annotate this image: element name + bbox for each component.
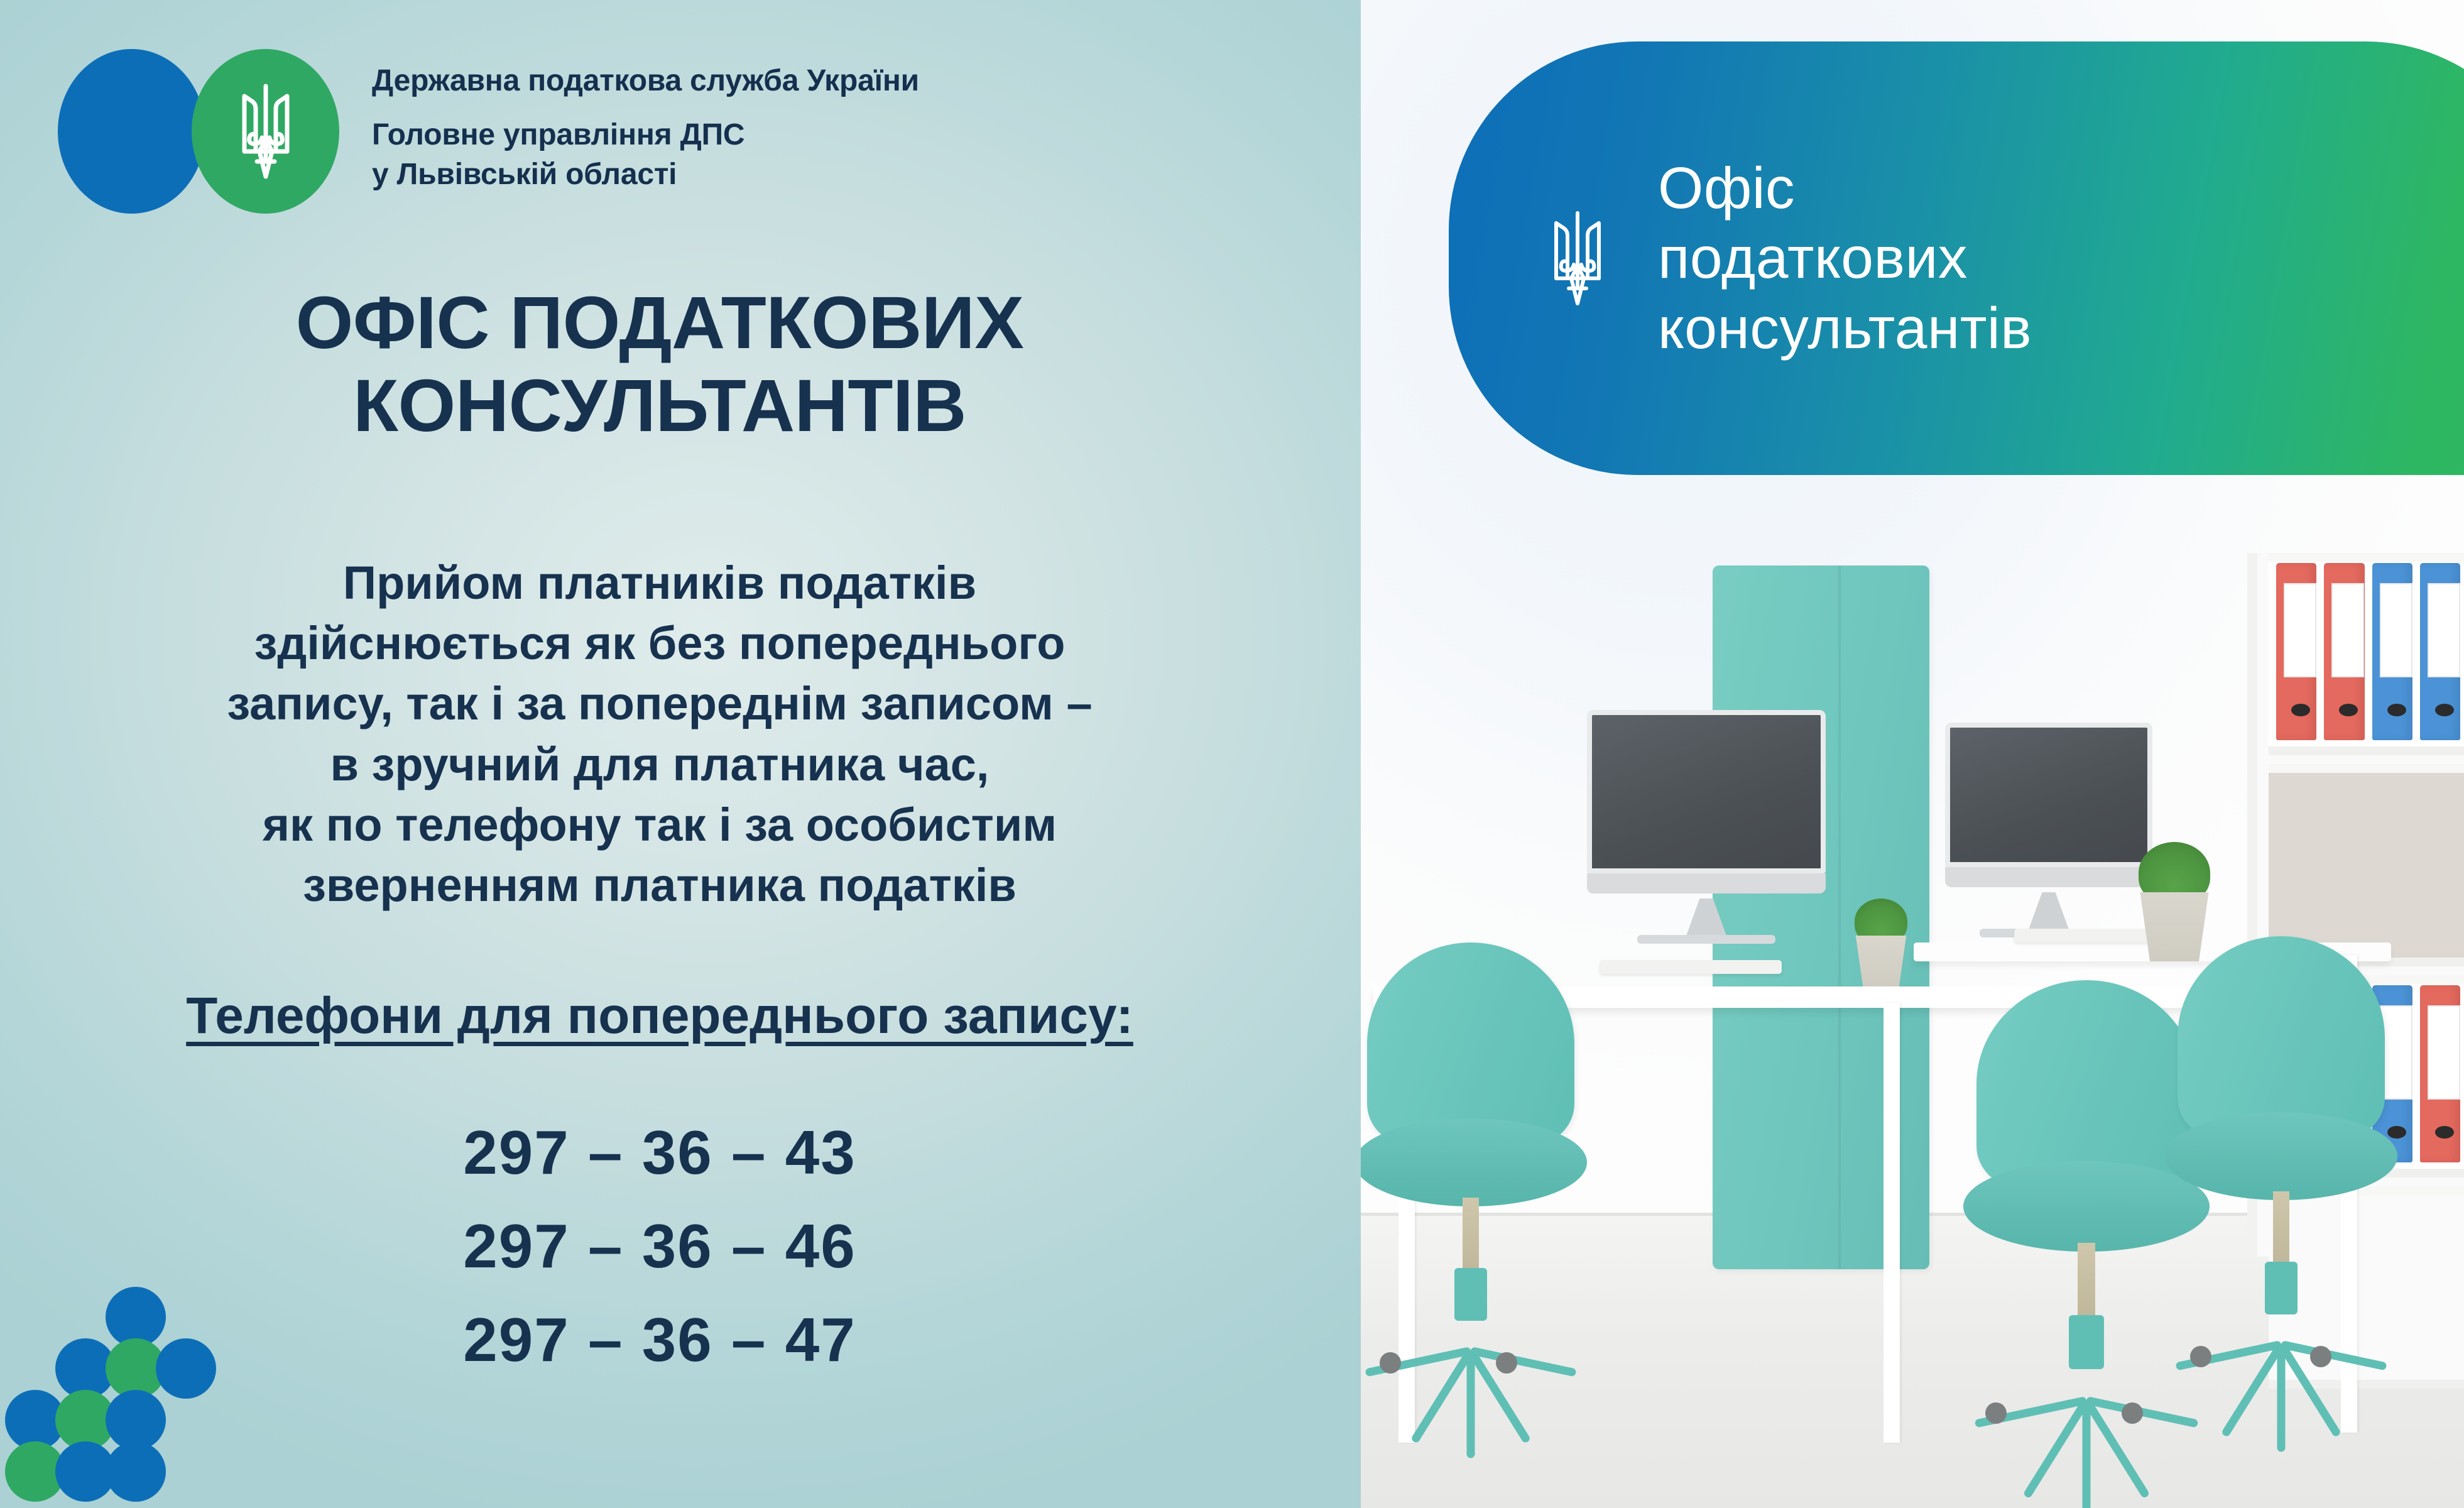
organisation-name-block: Державна податкова служба України Головн… [372,49,919,194]
desk-leg [1883,1003,1900,1443]
badge-trident-wrapper [1540,207,1615,309]
org-line-2: Головне управління ДПС [372,116,919,155]
office-chair-right [2178,936,2385,1376]
office-chair-left [1367,942,1574,1382]
body-line-5: як по телефону так і за особистим [0,795,1319,855]
tax-consultants-badge: Офіс податкових консультантів [1449,41,2464,475]
logo-green-circle [192,49,339,214]
body-line-1: Прийом платників податків [0,553,1319,613]
poster-canvas: Державна податкова служба України Головн… [0,0,2464,1508]
badge-line-1: Офіс [1658,153,2032,224]
decorative-dot [156,1338,216,1399]
keyboard [1600,960,1782,974]
office-photo-panel: Офіс податкових консультантів [1361,0,2464,1508]
imac-monitor-left [1587,710,1826,899]
binder [2420,563,2460,740]
binder [2372,563,2412,740]
page-title-line-1: ОФІС ПОДАТКОВИХ [0,281,1319,364]
page-title-line-2: КОНСУЛЬТАНТІВ [0,364,1319,447]
organisation-logo: Державна податкова служба України Головн… [58,49,919,214]
office-chair-center [1976,980,2196,1433]
page-title: ОФІС ПОДАТКОВИХ КОНСУЛЬТАНТІВ [0,281,1319,447]
ukraine-trident-icon [228,81,303,182]
shelf-row [2269,553,2464,755]
badge-text-block: Офіс податкових консультантів [1658,153,2032,364]
body-line-6: зверненням платника податків [0,855,1319,915]
imac-monitor-right [1945,723,2152,892]
body-line-3: запису, так і за попереднім записом – [0,674,1319,734]
left-info-panel: Державна податкова служба України Головн… [0,0,1361,1508]
body-line-4: в зручний для платника час, [0,735,1319,795]
logo-blue-circle [58,49,205,214]
body-paragraph: Прийом платників податків здійснюється я… [0,553,1319,915]
phones-heading: Телефони для попереднього запису: [0,986,1319,1046]
decorative-dot [106,1441,166,1502]
decorative-dot-cluster [0,1257,352,1508]
badge-line-2: податкових [1658,223,2032,293]
body-line-2: здійснюється як без попереднього [0,613,1319,674]
badge-line-3: консультантів [1658,293,2032,364]
binder [2420,985,2460,1162]
potted-plant-small [1851,899,1911,986]
phone-number-1[interactable]: 297 – 36 – 43 [0,1106,1319,1199]
ukraine-trident-icon [1540,207,1615,309]
binder [2276,563,2316,740]
org-line-3: у Львівській області [372,155,919,194]
binder [2324,563,2364,740]
org-line-1: Державна податкова служба України [372,62,919,101]
